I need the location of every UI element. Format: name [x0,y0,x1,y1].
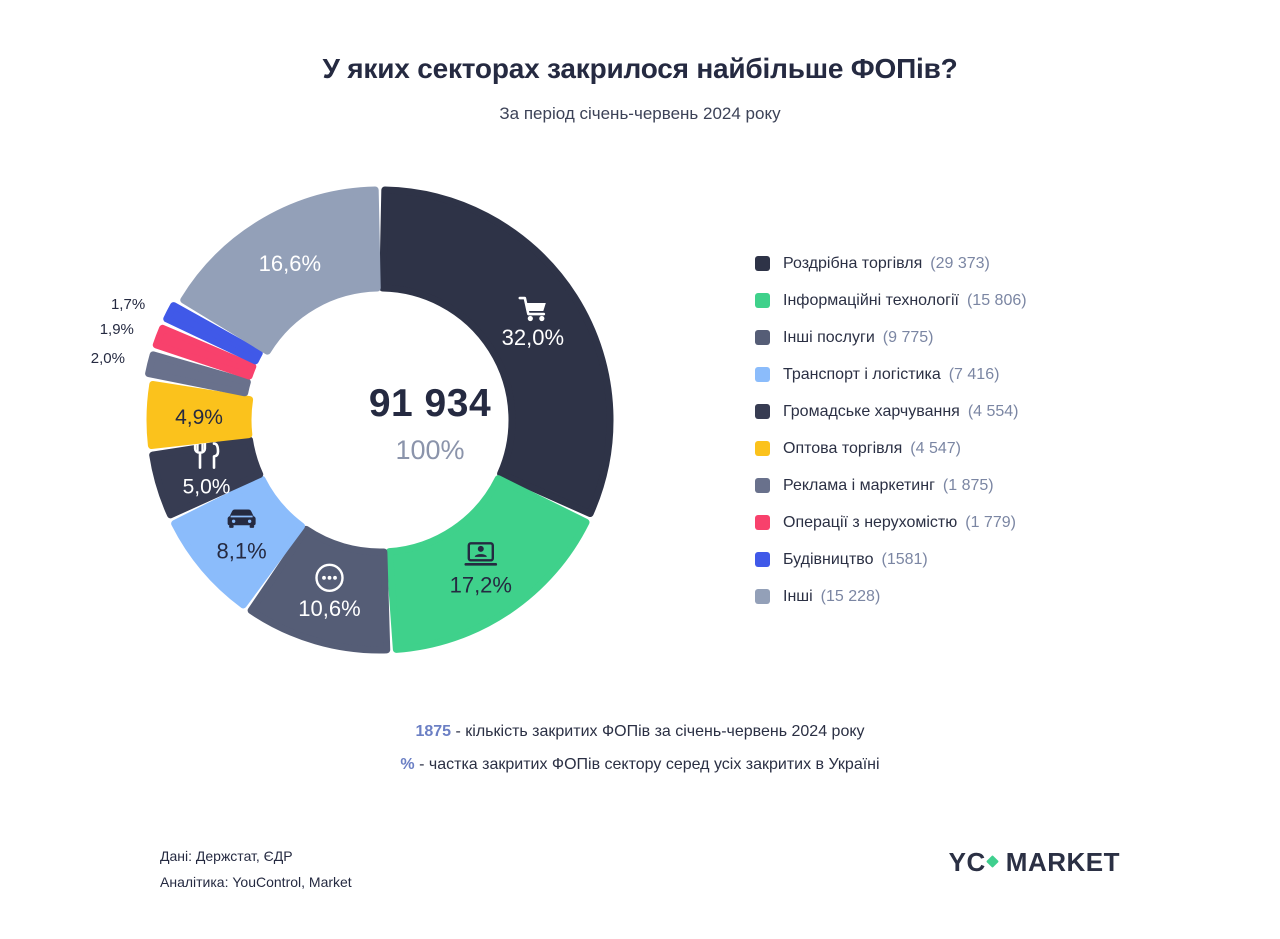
legend-label: Роздрібна торгівля [783,255,922,273]
footnote-line: % - частка закритих ФОПів сектору серед … [0,748,1280,781]
donut-chart-svg: 32,0%17,2%10,6%8,1%5,0%4,9%16,6% [120,160,740,700]
chart-legend: Роздрібна торгівля(29 373)Інформаційні т… [755,245,1235,615]
source-analytics-line: Аналітика: YouControl, Market [160,869,352,895]
donut-slice-percent-label: 17,2% [450,572,512,597]
source-credits: Дані: Держстат, ЄДР Аналітика: YouContro… [160,843,352,895]
page-subtitle: За період січень-червень 2024 року [0,104,1280,124]
legend-color-swatch [755,293,770,308]
legend-label: Інформаційні технології [783,292,959,310]
legend-count: (4 547) [910,440,961,458]
legend-label: Транспорт і логістика [783,366,941,384]
source-data-line: Дані: Держстат, ЄДР [160,843,352,869]
legend-item[interactable]: Оптова торгівля(4 547) [755,430,1235,467]
legend-color-swatch [755,404,770,419]
legend-item[interactable]: Інші послуги(9 775) [755,319,1235,356]
bottom-bar: Дані: Держстат, ЄДР Аналітика: YouContro… [0,839,1280,899]
main-content: 32,0%17,2%10,6%8,1%5,0%4,9%16,6% 91 934 … [0,150,1280,690]
donut-slice-percent-label: 8,1% [217,539,267,564]
legend-color-swatch [755,367,770,382]
legend-label: Інші [783,588,813,606]
legend-item[interactable]: Громадське харчування(4 554) [755,393,1235,430]
car-icon [228,509,256,527]
donut-slice-percent-label: 10,6% [298,596,360,621]
logo-yc-text: YC [949,847,986,878]
donut-slice-percent-label: 16,6% [259,251,321,276]
legend-color-swatch [755,589,770,604]
legend-count: (1 779) [965,514,1016,532]
footnote-text: - кількість закритих ФОПів за січень-чер… [451,723,864,740]
logo-diamond-icon [986,855,999,868]
legend-count: (15 806) [967,292,1027,310]
donut-external-percent-label: 2,0% [63,350,125,367]
legend-item[interactable]: Роздрібна торгівля(29 373) [755,245,1235,282]
donut-slice[interactable] [383,190,610,513]
donut-slice-path[interactable] [383,190,610,513]
legend-count: (1 875) [943,477,994,495]
legend-count: (7 416) [949,366,1000,384]
footnote-accent: 1875 [415,723,451,740]
legend-label: Реклама і маркетинг [783,477,935,495]
footnote-accent: % [400,756,414,773]
legend-color-swatch [755,330,770,345]
brand-logo: YC MARKET [949,847,1120,878]
donut-slice-percent-label: 4,9% [175,406,223,429]
footnote-line: 1875 - кількість закритих ФОПів за січен… [0,715,1280,748]
legend-label: Оптова торгівля [783,440,902,458]
legend-item[interactable]: Транспорт і логістика(7 416) [755,356,1235,393]
legend-color-swatch [755,256,770,271]
legend-label: Будівництво [783,551,874,569]
legend-color-swatch [755,552,770,567]
legend-count: (29 373) [930,255,990,273]
legend-count: (9 775) [883,329,934,347]
legend-label: Інші послуги [783,329,875,347]
header: У яких секторах закрилося найбільше ФОПі… [0,0,1280,124]
donut-external-percent-label: 1,9% [72,321,134,338]
legend-color-swatch [755,515,770,530]
legend-item[interactable]: Операції з нерухомістю(1 779) [755,504,1235,541]
legend-item[interactable]: Реклама і маркетинг(1 875) [755,467,1235,504]
footnotes: 1875 - кількість закритих ФОПів за січен… [0,715,1280,781]
legend-item[interactable]: Інші(15 228) [755,578,1235,615]
legend-label: Громадське харчування [783,403,960,421]
legend-count: (1581) [882,551,928,569]
legend-color-swatch [755,441,770,456]
legend-item[interactable]: Інформаційні технології(15 806) [755,282,1235,319]
donut-chart: 32,0%17,2%10,6%8,1%5,0%4,9%16,6% 91 934 … [120,160,740,700]
legend-label: Операції з нерухомістю [783,514,957,532]
donut-external-percent-label: 1,7% [83,296,145,313]
legend-count: (15 228) [821,588,881,606]
legend-color-swatch [755,478,770,493]
page-title: У яких секторах закрилося найбільше ФОПі… [0,52,1280,86]
donut-slice-percent-label: 32,0% [502,325,564,350]
legend-item[interactable]: Будівництво(1581) [755,541,1235,578]
footnote-text: - частка закритих ФОПів сектору серед ус… [415,756,880,773]
donut-slice-percent-label: 5,0% [183,476,231,499]
legend-count: (4 554) [968,403,1019,421]
logo-market-text: MARKET [1006,847,1120,878]
